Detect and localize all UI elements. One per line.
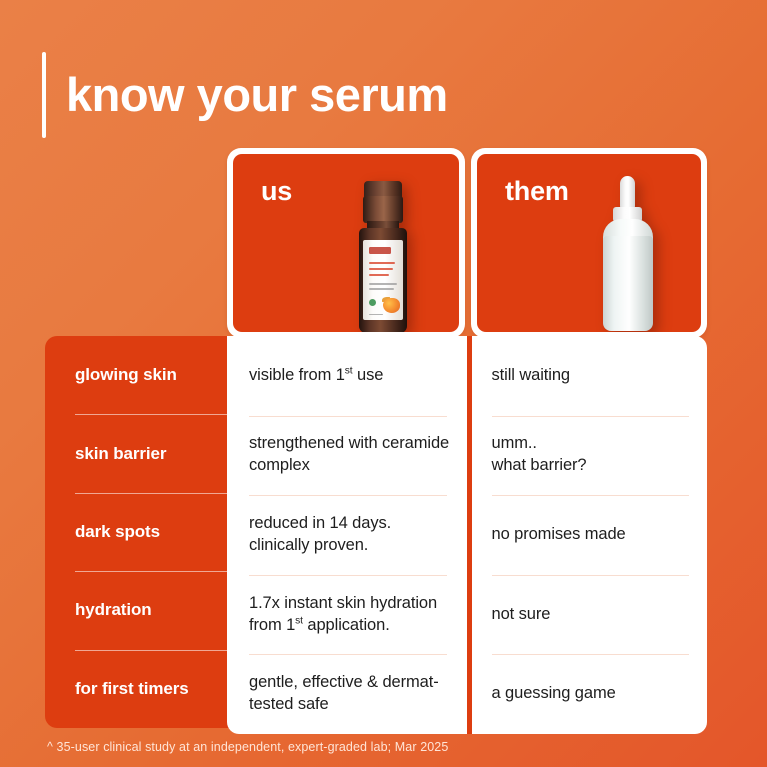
header-label-them: them bbox=[505, 176, 569, 207]
header-card-them-inner: them bbox=[477, 154, 701, 332]
row-label-dark-spots: dark spots bbox=[45, 493, 257, 571]
row-label-text: glowing skin bbox=[75, 365, 177, 385]
header-label-us: us bbox=[261, 176, 292, 207]
table-cell-us-dark-spots: reduced in 14 days. clinically proven. bbox=[249, 495, 451, 575]
page-title: know your serum bbox=[42, 52, 448, 138]
cell-text: 1.7x instant skin hydration from 1st app… bbox=[249, 593, 451, 637]
table-cell-them-skin-barrier: umm..what barrier? bbox=[492, 416, 694, 496]
page-title-text: know your serum bbox=[66, 52, 448, 138]
table-cell-them-dark-spots: no promises made bbox=[492, 495, 694, 575]
column-divider bbox=[467, 336, 472, 734]
comparison-table-card: visible from 1st use strengthened with c… bbox=[227, 336, 707, 734]
header-card-us-inner: us bbox=[233, 154, 459, 332]
cell-text: not sure bbox=[492, 604, 551, 626]
cell-text: a guessing game bbox=[492, 683, 616, 705]
comparison-column-them: still waiting umm..what barrier? no prom… bbox=[465, 336, 708, 734]
row-label-text: for first timers bbox=[75, 679, 189, 699]
poster-canvas: know your serum us bbox=[0, 0, 767, 767]
table-cell-them-glowing-skin: still waiting bbox=[492, 336, 694, 416]
row-label-hydration: hydration bbox=[45, 571, 257, 649]
row-label-skin-barrier: skin barrier bbox=[45, 414, 257, 492]
table-cell-them-hydration: not sure bbox=[492, 575, 694, 655]
cell-text: umm..what barrier? bbox=[492, 433, 587, 477]
table-cell-us-for-first-timers: gentle, effective & dermat-tested safe bbox=[249, 654, 451, 734]
row-label-glowing-skin: glowing skin bbox=[45, 336, 257, 414]
table-cell-us-skin-barrier: strengthened with ceramide complex bbox=[249, 416, 451, 496]
cell-text: no promises made bbox=[492, 524, 626, 546]
table-cell-us-hydration: 1.7x instant skin hydration from 1st app… bbox=[249, 575, 451, 655]
comparison-column-us: visible from 1st use strengthened with c… bbox=[227, 336, 465, 734]
serum-bottle-icon bbox=[351, 181, 415, 332]
header-card-them: them bbox=[471, 148, 707, 338]
cell-text: reduced in 14 days. clinically proven. bbox=[249, 513, 451, 557]
cell-text: gentle, effective & dermat-tested safe bbox=[249, 672, 451, 716]
row-label-for-first-timers: for first timers bbox=[45, 650, 257, 728]
row-label-text: hydration bbox=[75, 600, 152, 620]
cell-text: visible from 1st use bbox=[249, 365, 383, 387]
cell-text: still waiting bbox=[492, 365, 570, 387]
row-label-panel: glowing skin skin barrier dark spots hyd… bbox=[45, 336, 257, 728]
table-cell-us-glowing-skin: visible from 1st use bbox=[249, 336, 451, 416]
header-card-us: us bbox=[227, 148, 465, 338]
dropper-bottle-icon bbox=[593, 176, 659, 331]
row-label-text: skin barrier bbox=[75, 444, 166, 464]
table-cell-them-for-first-timers: a guessing game bbox=[492, 654, 694, 734]
cell-text: strengthened with ceramide complex bbox=[249, 433, 451, 477]
row-label-text: dark spots bbox=[75, 522, 160, 542]
title-accent-bar bbox=[42, 52, 46, 138]
footnote: ^ 35-user clinical study at an independe… bbox=[47, 740, 448, 754]
